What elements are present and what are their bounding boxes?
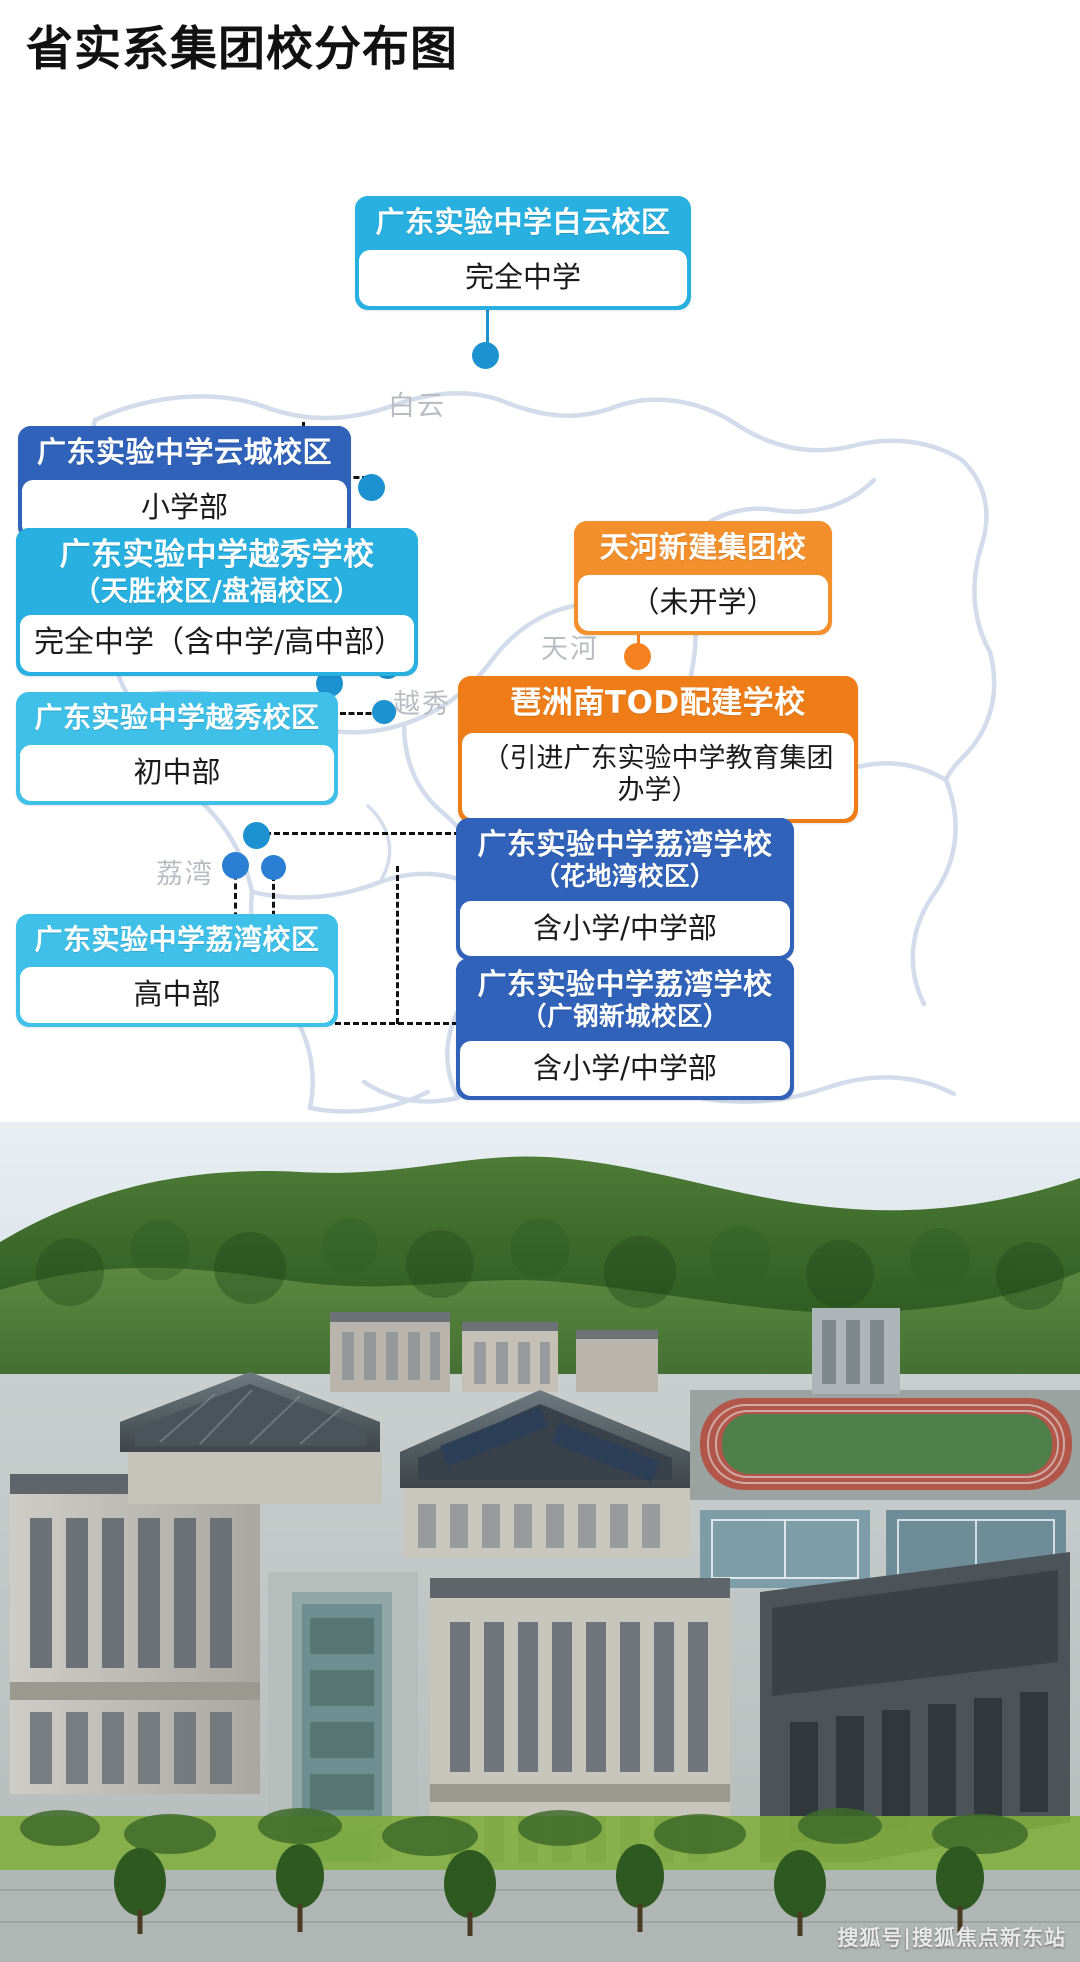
card-liwan-guanggang-header: 广东实验中学荔湾学校 （广钢新城校区） [456,958,794,1041]
baiyun-campus-dot[interactable] [472,342,499,369]
district-label-baiyun: 白云 [388,384,446,423]
card-yuexiu-school-body: 完全中学（含中学/高中部） [20,615,414,672]
card-baiyun-body: 完全中学 [359,250,687,306]
card-pazhou-tod[interactable]: 琶洲南TOD配建学校 （引进广东实验中学教育集团办学） [458,676,858,823]
card-liwan-huadiwan-body: 含小学/中学部 [460,901,790,957]
card-yuexiu-school-title: 广东实验中学越秀学校 [60,537,375,573]
yuexiu-campus-dot[interactable] [372,700,396,724]
card-liwan-guanggang-subtitle: （广钢新城校区） [472,1002,778,1033]
liwan-huadiwan-dot[interactable] [243,822,270,849]
card-yuncheng-title: 广东实验中学云城校区 [18,426,351,480]
card-yuexiu-campus-title: 广东实验中学越秀校区 [16,692,338,745]
card-baiyun-title: 广东实验中学白云校区 [355,196,691,250]
card-liwan-huadiwan-subtitle: （花地湾校区） [472,862,778,893]
card-yuexiu-school[interactable]: 广东实验中学越秀学校 （天胜校区/盘福校区） 完全中学（含中学/高中部） [16,528,418,676]
liwan-guanggang-dot[interactable] [261,855,286,880]
card-liwan-huadiwan[interactable]: 广东实验中学荔湾学校 （花地湾校区） 含小学/中学部 [456,818,794,960]
card-yuexiu-school-subtitle: （天胜校区/盘福校区） [32,575,402,608]
card-tianhe-new[interactable]: 天河新建集团校 （未开学） [574,521,832,635]
infographic-root: 省实系集团校分布图 [0,0,1080,1962]
card-tianhe-new-body: （未开学） [578,575,828,631]
card-yuncheng[interactable]: 广东实验中学云城校区 小学部 [18,426,351,540]
connector-huadiwan-h [256,832,460,835]
campus-aerial-photo: 搜狐号|搜狐焦点新东站 [0,1122,1080,1962]
card-tianhe-new-title: 天河新建集团校 [574,521,832,575]
card-yuexiu-campus-body: 初中部 [20,745,334,801]
tianhe-new-school-dot[interactable] [624,643,651,670]
card-yuexiu-campus[interactable]: 广东实验中学越秀校区 初中部 [16,692,338,805]
card-baiyun[interactable]: 广东实验中学白云校区 完全中学 [355,196,691,310]
card-liwan-huadiwan-header: 广东实验中学荔湾学校 （花地湾校区） [456,818,794,901]
card-yuexiu-school-header: 广东实验中学越秀学校 （天胜校区/盘福校区） [16,528,418,615]
card-liwan-guanggang-body: 含小学/中学部 [460,1041,790,1097]
card-pazhou-tod-body: （引进广东实验中学教育集团办学） [462,733,854,819]
card-pazhou-tod-title: 琶洲南TOD配建学校 [458,676,858,733]
yuncheng-campus-dot[interactable] [358,474,385,501]
liwan-campus-dot[interactable] [222,852,249,879]
page-title: 省实系集团校分布图 [26,22,458,77]
card-liwan-campus-body: 高中部 [20,967,334,1023]
card-liwan-guanggang-title: 广东实验中学荔湾学校 [477,967,772,1001]
watermark: 搜狐号|搜狐焦点新东站 [837,1922,1066,1952]
district-label-yuexiu: 越秀 [393,682,451,721]
district-label-liwan: 荔湾 [156,852,214,891]
card-liwan-campus[interactable]: 广东实验中学荔湾校区 高中部 [16,914,338,1027]
connector-guanggang-v2 [396,866,399,1024]
card-liwan-campus-title: 广东实验中学荔湾校区 [16,914,338,967]
card-liwan-huadiwan-title: 广东实验中学荔湾学校 [477,827,772,861]
card-liwan-guanggang[interactable]: 广东实验中学荔湾学校 （广钢新城校区） 含小学/中学部 [456,958,794,1100]
